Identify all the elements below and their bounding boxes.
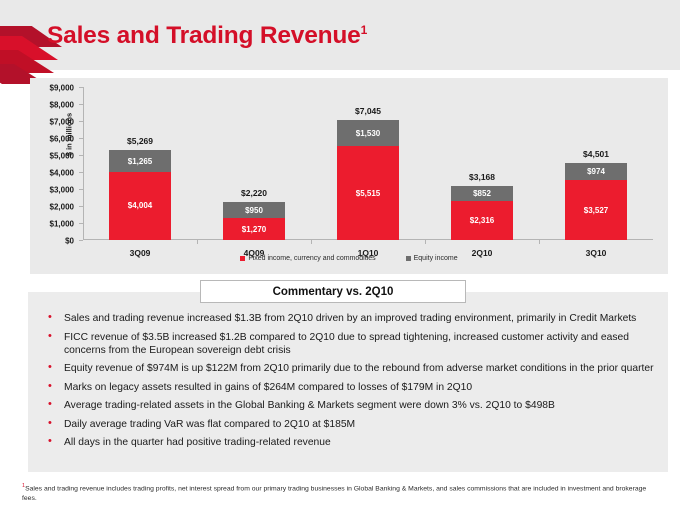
y-axis-tick-label: $4,000 (50, 169, 74, 178)
legend-swatch-equity-icon (406, 256, 411, 261)
legend-item-ficc: Fixed income, currency and commodities (240, 255, 375, 262)
commentary-bullet: All days in the quarter had positive tra… (42, 436, 654, 449)
commentary-bullet: Marks on legacy assets resulted in gains… (42, 381, 654, 394)
chart-panel: $ in millions $0$1,000$2,000$3,000$4,000… (30, 78, 668, 274)
bar-segment-equity[interactable]: $950 (223, 202, 285, 218)
bar-total-label: $5,269 (127, 136, 153, 146)
footnote: 1Sales and trading revenue includes trad… (22, 482, 662, 503)
commentary-bullet: Equity revenue of $974M is up $122M from… (42, 362, 654, 375)
y-axis-tick-label: $6,000 (50, 135, 74, 144)
y-axis-tick-label: $3,000 (50, 186, 74, 195)
bar-stack[interactable]: $852$2,316 (451, 186, 513, 240)
x-axis-tick (197, 240, 198, 244)
y-axis-tick-label: $0 (65, 237, 74, 246)
y-axis-tick-label: $5,000 (50, 152, 74, 161)
bar-group[interactable]: $1,530$5,515$7,0451Q10 (311, 87, 425, 240)
commentary-bullet: Sales and trading revenue increased $1.3… (42, 312, 654, 325)
bar-segment-ficc[interactable]: $5,515 (337, 146, 399, 240)
legend-label-equity: Equity income (414, 255, 458, 262)
bar-stack[interactable]: $1,530$5,515 (337, 120, 399, 240)
bar-total-label: $7,045 (355, 106, 381, 116)
bar-group[interactable]: $1,265$4,004$5,2693Q09 (83, 87, 197, 240)
bar-segment-equity[interactable]: $1,530 (337, 120, 399, 146)
commentary-bullet: FICC revenue of $3.5B increased $1.2B co… (42, 331, 654, 357)
commentary-heading: Commentary vs. 2Q10 (200, 280, 466, 303)
bar-total-label: $4,501 (583, 149, 609, 159)
bar-stack[interactable]: $1,265$4,004 (109, 150, 171, 240)
commentary-bullet: Average trading-related assets in the Gl… (42, 399, 654, 412)
y-axis-tick-label: $1,000 (50, 220, 74, 229)
y-axis-tick: $0 (79, 240, 83, 241)
bar-stack[interactable]: $974$3,527 (565, 163, 627, 240)
bar-segment-ficc[interactable]: $3,527 (565, 180, 627, 240)
bar-segment-equity[interactable]: $852 (451, 186, 513, 200)
bar-group[interactable]: $950$1,270$2,2204Q09 (197, 87, 311, 240)
chart-plot-area: $0$1,000$2,000$3,000$4,000$5,000$6,000$7… (83, 87, 653, 240)
x-axis-tick (425, 240, 426, 244)
y-axis-tick-label: $2,000 (50, 203, 74, 212)
bar-segment-ficc[interactable]: $1,270 (223, 218, 285, 240)
bar-segment-ficc[interactable]: $4,004 (109, 172, 171, 240)
bar-segment-ficc[interactable]: $2,316 (451, 201, 513, 240)
bar-group[interactable]: $974$3,527$4,5013Q10 (539, 87, 653, 240)
bar-segment-equity[interactable]: $974 (565, 163, 627, 180)
commentary-bullet-list: Sales and trading revenue increased $1.3… (42, 312, 654, 455)
page-title: Sales and Trading Revenue1 (47, 22, 367, 50)
y-axis-tick-label: $8,000 (50, 101, 74, 110)
page-title-text: Sales and Trading Revenue (47, 22, 361, 49)
y-axis-tick-label: $9,000 (50, 84, 74, 93)
bar-stack[interactable]: $950$1,270 (223, 202, 285, 240)
legend-label-ficc: Fixed income, currency and commodities (248, 255, 375, 262)
chart-legend: Fixed income, currency and commodities E… (30, 255, 668, 262)
x-axis-tick (539, 240, 540, 244)
legend-swatch-ficc-icon (240, 256, 245, 261)
bar-total-label: $3,168 (469, 172, 495, 182)
bar-group[interactable]: $852$2,316$3,1682Q10 (425, 87, 539, 240)
y-axis-tick-label: $7,000 (50, 118, 74, 127)
legend-item-equity: Equity income (406, 255, 458, 262)
bar-total-label: $2,220 (241, 188, 267, 198)
bar-segment-equity[interactable]: $1,265 (109, 150, 171, 172)
commentary-bullet: Daily average trading VaR was flat compa… (42, 418, 654, 431)
x-axis-tick (311, 240, 312, 244)
commentary-panel: Commentary vs. 2Q10 Sales and trading re… (28, 292, 668, 472)
footnote-text: Sales and trading revenue includes tradi… (22, 485, 646, 502)
page-title-superscript: 1 (361, 23, 367, 37)
